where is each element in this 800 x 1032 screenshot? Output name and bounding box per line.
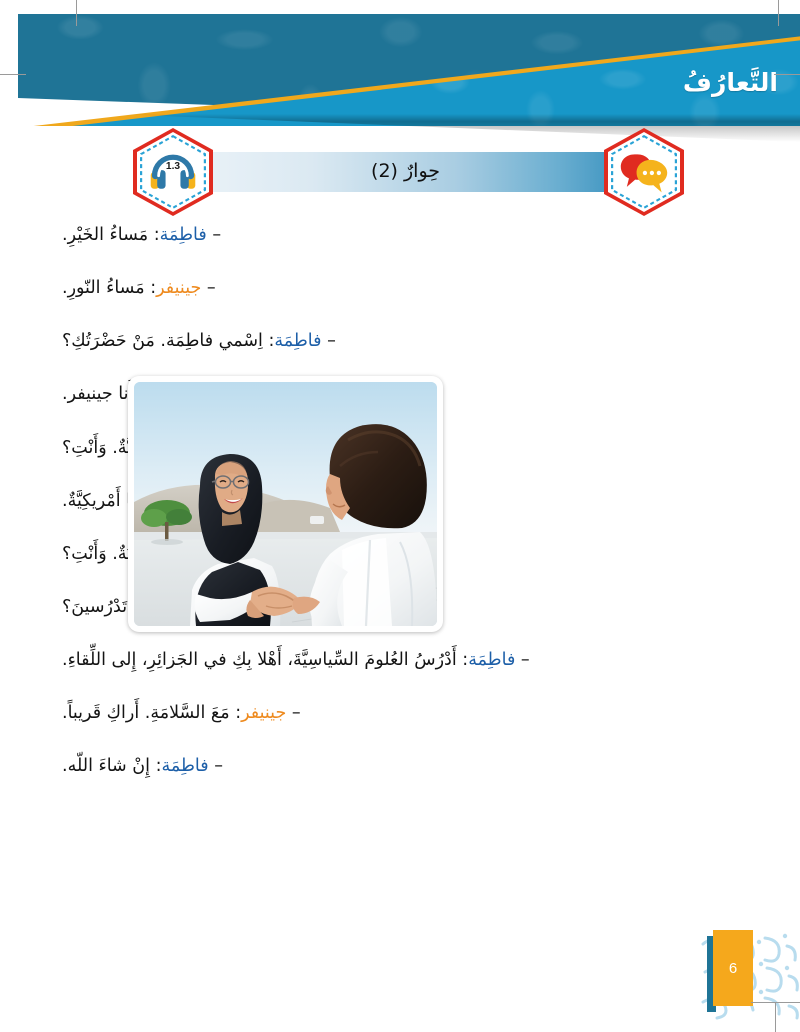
dialogue-line: – فاطِمَة: أَدْرُسُ العُلومَ السِّياسِيَ…	[0, 649, 800, 673]
dialogue-dash: –	[292, 703, 301, 723]
dialogue-text: أَدْرُسُ العُلومَ السِّياسِيَّةَ، أَهْلا…	[62, 650, 457, 670]
crop-mark-top-left-vertical	[76, 0, 77, 26]
conversation-badge[interactable]	[604, 128, 684, 216]
dialogue-text: اِسْمي فاطِمَة. مَنْ حَضْرَتُكِ؟	[62, 331, 263, 351]
dialogue-text: مَساءُ النّورِ.	[62, 278, 145, 298]
dialogue-dash: –	[214, 756, 223, 776]
dialogue-dash: –	[327, 331, 336, 351]
dialogue-dash: –	[521, 650, 530, 670]
dialogue-speaker-jennifer: جينيفر	[241, 703, 286, 723]
crop-mark-top-right-horizontal	[774, 74, 800, 75]
section-title-bar: حِوارٌ (2)	[193, 152, 618, 192]
dialogue-line: – فاطِمَة: إِنْ شاءَ اللّه.	[0, 755, 800, 779]
dialogue-text: إِنْ شاءَ اللّه.	[62, 756, 150, 776]
speech-bubbles-icon	[618, 142, 670, 202]
page-footer: 6	[655, 930, 800, 1020]
section-header-row: حِوارٌ (2) 1.3	[0, 128, 800, 218]
crop-mark-top-right-vertical	[778, 0, 779, 26]
page-header: التَّعارُفُ	[18, 14, 800, 126]
dialogue-speaker-fatima: فاطِمَة	[468, 650, 515, 670]
audio-track-number: 1.3	[166, 161, 181, 172]
dialogue-line: – جينيفر: مَساءُ النّورِ.	[0, 277, 800, 301]
crop-mark-bottom-right-vertical	[775, 1002, 776, 1032]
dialogue-text: أَنا جينيفر.	[62, 384, 133, 404]
lesson-photo	[128, 376, 443, 632]
audio-track-badge[interactable]: 1.3	[133, 128, 213, 216]
dialogue-line: – فاطِمَة: اِسْمي فاطِمَة. مَنْ حَضْرَتُ…	[0, 330, 800, 354]
dialogue-dash: –	[212, 225, 221, 245]
dialogue-speaker-fatima: فاطِمَة	[160, 225, 207, 245]
page-number: 6	[713, 930, 753, 1006]
crop-mark-top-left-horizontal	[0, 74, 26, 75]
dialogue-speaker-fatima: فاطِمَة	[274, 331, 321, 351]
dialogue-line: – جينيفر: مَعَ السَّلامَةِ. أَراكِ قَريب…	[0, 702, 800, 726]
dialogue-text: مَساءُ الخَيْرِ.	[62, 225, 148, 245]
dialogue-text: مَعَ السَّلامَةِ. أَراكِ قَريباً.	[62, 703, 230, 723]
dialogue-dash: –	[207, 278, 216, 298]
section-title: حِوارٌ (2)	[193, 152, 618, 192]
dialogue-speaker-fatima: فاطِمَة	[161, 756, 208, 776]
dialogue-line: – فاطِمَة: مَساءُ الخَيْرِ.	[0, 224, 800, 248]
page-title: التَّعارُفُ	[683, 70, 778, 95]
lesson-photo-image	[134, 382, 437, 626]
headphones-icon: 1.3	[147, 142, 199, 202]
dialogue-speaker-jennifer: جينيفر	[156, 278, 201, 298]
